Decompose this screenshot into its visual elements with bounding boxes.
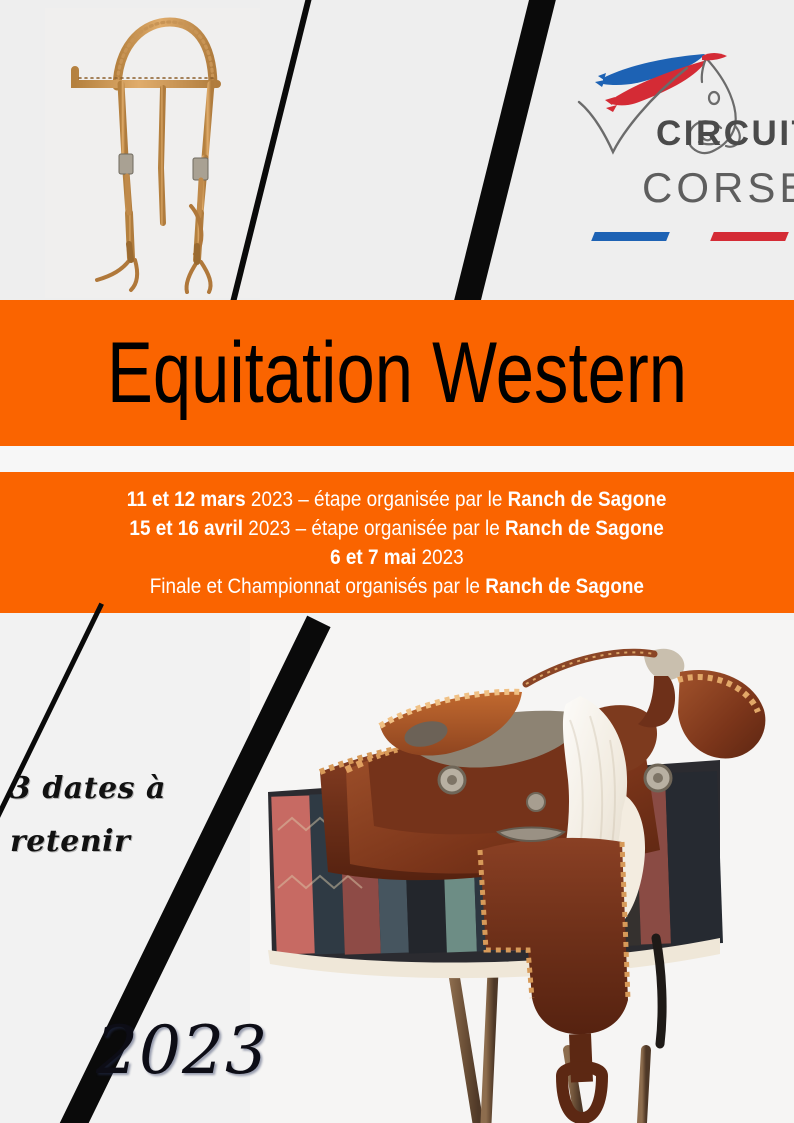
date-middle: 2023 – étape organisée par le: [246, 487, 508, 511]
saddle-photo: [250, 620, 794, 1123]
date-middle: 2023: [416, 545, 463, 569]
date-line: 11 et 12 mars 2023 – étape organisée par…: [127, 485, 667, 514]
date-line: 6 et 7 mai 2023: [330, 543, 464, 572]
dates-list: 11 et 12 mars 2023 – étape organisée par…: [0, 472, 794, 613]
tricolor-bar-red: [710, 232, 789, 241]
date-bold-prefix: 11 et 12 mars: [127, 487, 246, 511]
tagline: 3 dates à retenir: [10, 762, 180, 868]
poster-canvas: CIRCUIT CORSE Equitation Western 11 et 1…: [0, 0, 794, 1123]
date-middle: Finale et Championnat organisés par le: [150, 574, 486, 598]
tagline-line-2: retenir: [10, 815, 180, 868]
date-bold-suffix: Ranch de Sagone: [485, 574, 644, 598]
logo-word-corse: CORSE: [642, 164, 794, 212]
tricolor-bar-blue: [591, 232, 670, 241]
circuit-corse-logo: CIRCUIT CORSE: [575, 46, 790, 261]
date-line: Finale et Championnat organisés par le R…: [150, 572, 644, 601]
page-title: Equitation Western: [79, 300, 714, 446]
bridle-photo: [45, 8, 260, 298]
date-line: 15 et 16 avril 2023 – étape organisée pa…: [130, 514, 664, 543]
date-bold-suffix: Ranch de Sagone: [505, 516, 664, 540]
logo-word-circuit: CIRCUIT: [656, 114, 794, 154]
date-bold-prefix: 15 et 16 avril: [130, 516, 244, 540]
date-bold-prefix: 6 et 7 mai: [330, 545, 416, 569]
ear-tuft: [702, 53, 727, 60]
date-bold-suffix: Ranch de Sagone: [508, 487, 667, 511]
date-middle: 2023 – étape organisée par le: [243, 516, 505, 540]
tagline-line-1: 3 dates à: [10, 762, 180, 815]
year-label: 2023: [96, 1012, 268, 1089]
